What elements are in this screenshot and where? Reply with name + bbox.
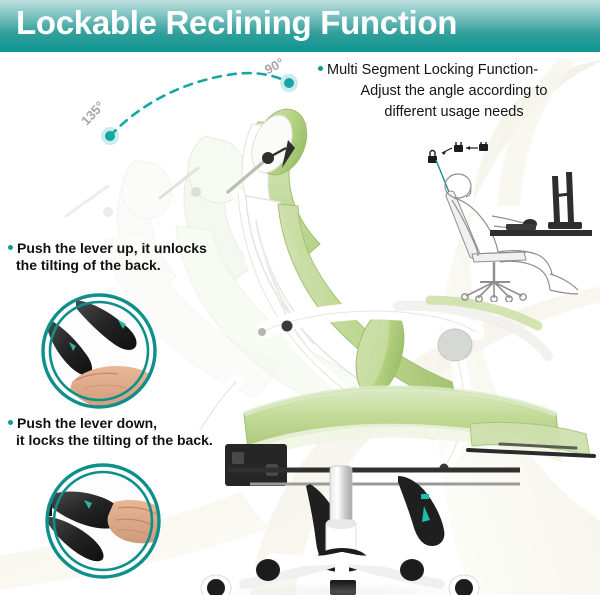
caster xyxy=(256,559,280,581)
seated-posture-diagram xyxy=(402,142,598,302)
angle-label-135: 135° xyxy=(78,98,107,128)
ghost-backrest-112 xyxy=(160,136,362,412)
multi-segment-line1: Multi Segment Locking Function- xyxy=(327,62,538,78)
bullet-dot-icon xyxy=(8,245,13,250)
caster xyxy=(400,559,424,581)
callout-lever-up: Push the lever up, it unlocks the tiltin… xyxy=(8,240,223,274)
callout-multi-segment: Multi Segment Locking Function- Adjust t… xyxy=(318,60,590,123)
tilt-mechanism xyxy=(200,382,520,486)
angle-dot-90 xyxy=(284,78,294,88)
header-banner: Lockable Reclining Function xyxy=(0,0,600,52)
tilt-lever xyxy=(306,484,348,569)
lumbar-pillow xyxy=(348,304,412,400)
lever-down-line1: Push the lever down, xyxy=(17,415,157,431)
photo-lever-down xyxy=(18,458,188,592)
seat-cushion xyxy=(244,388,562,462)
lever-up-line2: the tilting of the back. xyxy=(8,257,223,274)
footrest xyxy=(468,422,594,456)
page-title: Lockable Reclining Function xyxy=(16,4,457,42)
multi-segment-line2: Adjust the angle according to xyxy=(318,81,590,102)
angle-dot-135 xyxy=(105,131,115,141)
bullet-dot-icon xyxy=(318,66,323,71)
caster xyxy=(201,575,231,595)
callout-lever-down: Push the lever down, it locks the tiltin… xyxy=(8,415,223,449)
lever-down-line2: it locks the tilting of the back. xyxy=(8,432,223,449)
lock-icon xyxy=(454,142,463,152)
infographic-page: Lockable Reclining Function xyxy=(0,0,600,595)
lock-icon xyxy=(479,142,488,151)
multi-segment-line3: different usage needs xyxy=(318,102,590,123)
photo-lever-up xyxy=(14,288,184,414)
angle-label-90: 90° xyxy=(262,55,286,77)
five-star-base xyxy=(201,548,479,595)
caster xyxy=(330,580,356,595)
armrest xyxy=(258,300,548,473)
lock-icon xyxy=(428,151,437,164)
headrest xyxy=(228,101,320,268)
height-lever xyxy=(398,476,444,546)
bullet-dot-icon xyxy=(8,420,13,425)
lever-up-line1: Push the lever up, it unlocks xyxy=(17,240,207,256)
gas-lift xyxy=(326,466,356,566)
caster xyxy=(449,575,479,595)
